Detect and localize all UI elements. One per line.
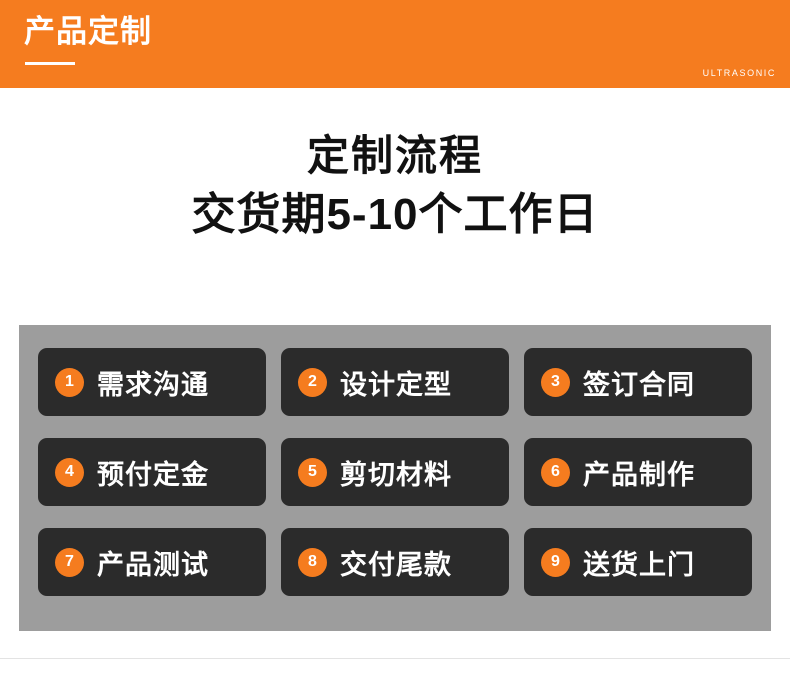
process-step-8: 8 交付尾款	[281, 528, 509, 596]
process-step-6: 6 产品制作	[524, 438, 752, 506]
step-number-badge: 4	[55, 458, 84, 487]
title-block: 定制流程 交货期5-10个工作日	[0, 88, 790, 240]
process-step-5: 5 剪切材料	[281, 438, 509, 506]
step-number-badge: 7	[55, 548, 84, 577]
page-title: 定制流程	[0, 133, 790, 179]
header-title: 产品定制	[24, 16, 152, 47]
step-number-badge: 9	[541, 548, 570, 577]
page-header: 产品定制 ULTRASONIC	[0, 0, 790, 88]
step-number-badge: 3	[541, 368, 570, 397]
process-step-3: 3 签订合同	[524, 348, 752, 416]
step-label: 设计定型	[340, 363, 452, 402]
product-customization-page: 产品定制 ULTRASONIC 定制流程 交货期5-10个工作日 1 需求沟通 …	[0, 0, 790, 673]
step-label: 需求沟通	[97, 363, 209, 402]
process-step-7: 7 产品测试	[38, 528, 266, 596]
process-steps-grid: 1 需求沟通 2 设计定型 3 签订合同 4 预付定金 5 剪切材料 6	[38, 348, 752, 596]
process-step-4: 4 预付定金	[38, 438, 266, 506]
step-label: 产品测试	[97, 543, 209, 582]
step-label: 产品制作	[583, 453, 695, 492]
step-number-badge: 5	[298, 458, 327, 487]
process-steps-panel: 1 需求沟通 2 设计定型 3 签订合同 4 预付定金 5 剪切材料 6	[19, 325, 771, 631]
process-step-9: 9 送货上门	[524, 528, 752, 596]
step-label: 剪切材料	[340, 453, 452, 492]
step-number-badge: 1	[55, 368, 84, 397]
step-label: 交付尾款	[340, 543, 452, 582]
step-number-badge: 8	[298, 548, 327, 577]
step-label: 签订合同	[583, 363, 695, 402]
brand-label: ULTRASONIC	[703, 68, 776, 78]
page-subtitle: 交货期5-10个工作日	[0, 191, 790, 239]
step-number-badge: 2	[298, 368, 327, 397]
footer-divider	[0, 658, 790, 659]
process-step-1: 1 需求沟通	[38, 348, 266, 416]
step-label: 预付定金	[97, 453, 209, 492]
header-title-underline	[25, 62, 75, 65]
process-step-2: 2 设计定型	[281, 348, 509, 416]
step-label: 送货上门	[583, 543, 695, 582]
step-number-badge: 6	[541, 458, 570, 487]
